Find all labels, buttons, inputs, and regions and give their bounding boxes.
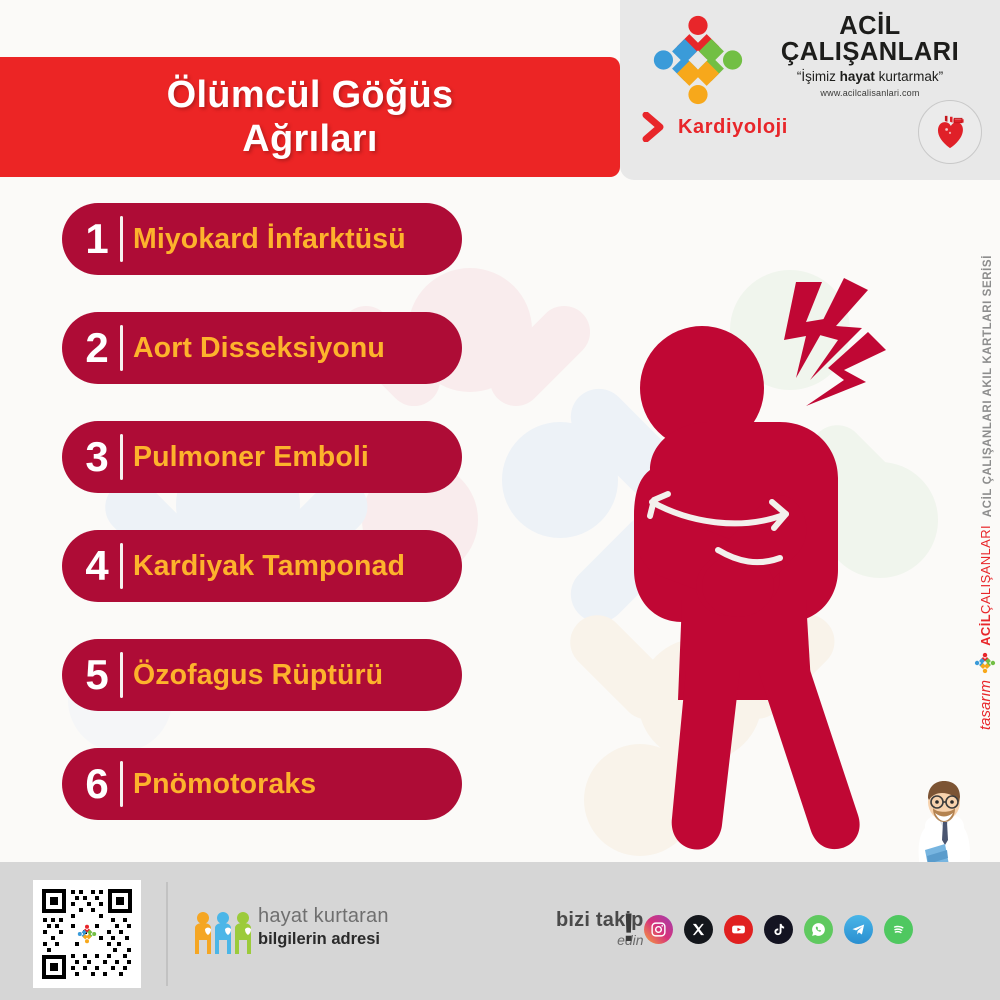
design-credit: ACİLÇALIŞANLARI tasarım	[974, 525, 996, 730]
four-people-logo	[650, 12, 746, 108]
qr-code[interactable]	[33, 880, 141, 988]
department-label: Kardiyoloji	[678, 116, 788, 139]
list-item[interactable]: 5 Özofagus Rüptürü	[62, 639, 462, 711]
hayat-kurtaran-line2: bilgilerin adresi	[258, 930, 389, 948]
footer-divider	[166, 882, 168, 986]
brand-text-block: ACİL ÇALIŞANLARI “İşimiz hayat kurtarmak…	[750, 14, 990, 98]
list-item-divider	[120, 325, 123, 371]
list-item-label: Kardiyak Tamponad	[133, 550, 405, 583]
series-vertical-label: ACİL ÇALIŞANLARI AKIL KARTLARI SERİSİ	[982, 255, 994, 517]
follow-us-text: bizi takip edin !	[556, 910, 644, 947]
list-item-divider	[120, 434, 123, 480]
title-banner: Ölümcül Göğüs Ağrıları	[0, 57, 620, 177]
brand-slogan: “İşimiz hayat kurtarmak”	[750, 70, 990, 84]
header-panel: ACİL ÇALIŞANLARI “İşimiz hayat kurtarmak…	[620, 0, 1000, 180]
page-title: Ölümcül Göğüs Ağrıları	[167, 73, 454, 161]
list-item-number: 4	[80, 545, 114, 587]
list-item-label: Miyokard İnfarktüsü	[133, 223, 406, 256]
list-item-number: 5	[80, 654, 114, 696]
hayat-kurtaran-line1: hayat kurtaran	[258, 906, 389, 927]
brand-url: www.acilcalisanlari.com	[750, 88, 990, 98]
social-links	[644, 915, 913, 944]
list-item-divider	[120, 216, 123, 262]
spotify-icon[interactable]	[884, 915, 913, 944]
list-item-number: 3	[80, 436, 114, 478]
follow-exclamation: !	[622, 908, 635, 948]
brand-title: ACİL ÇALIŞANLARI	[750, 14, 990, 65]
x-twitter-icon[interactable]	[684, 915, 713, 944]
telegram-icon[interactable]	[844, 915, 873, 944]
list-item[interactable]: 1 Miyokard İnfarktüsü	[62, 203, 462, 275]
list-item-label: Özofagus Rüptürü	[133, 659, 383, 692]
list-item[interactable]: 3 Pulmoner Emboli	[62, 421, 462, 493]
list-item-number: 6	[80, 763, 114, 805]
anatomical-heart-icon	[918, 100, 982, 164]
list-item[interactable]: 4 Kardiyak Tamponad	[62, 530, 462, 602]
page-title-line2: Ağrıları	[167, 117, 454, 161]
causes-list: 1 Miyokard İnfarktüsü 2 Aort Disseksiyon…	[62, 203, 462, 857]
chest-pain-figure-icon	[590, 270, 920, 860]
list-item-divider	[120, 761, 123, 807]
hayat-kurtaran-text: hayat kurtaran bilgilerin adresi	[258, 906, 389, 948]
four-people-logo-small	[974, 652, 996, 674]
list-item-number: 1	[80, 218, 114, 260]
page-title-line1: Ölümcül Göğüs	[167, 73, 454, 117]
youtube-icon[interactable]	[724, 915, 753, 944]
list-item[interactable]: 6 Pnömotoraks	[62, 748, 462, 820]
tiktok-icon[interactable]	[764, 915, 793, 944]
list-item[interactable]: 2 Aort Disseksiyonu	[62, 312, 462, 384]
design-credit-word: tasarım	[977, 680, 994, 730]
list-item-number: 2	[80, 327, 114, 369]
chevron-right-icon	[642, 112, 666, 142]
three-people-logo	[192, 910, 254, 956]
infographic-card: ACİL ÇALIŞANLARI “İşimiz hayat kurtarmak…	[0, 0, 1000, 1000]
department-row[interactable]: Kardiyoloji	[642, 112, 788, 142]
list-item-label: Pnömotoraks	[133, 768, 316, 801]
design-credit-brand: ACİLÇALIŞANLARI	[978, 525, 993, 646]
whatsapp-icon[interactable]	[804, 915, 833, 944]
instagram-icon[interactable]	[644, 915, 673, 944]
list-item-label: Pulmoner Emboli	[133, 441, 369, 474]
list-item-divider	[120, 543, 123, 589]
list-item-label: Aort Disseksiyonu	[133, 332, 385, 365]
list-item-divider	[120, 652, 123, 698]
